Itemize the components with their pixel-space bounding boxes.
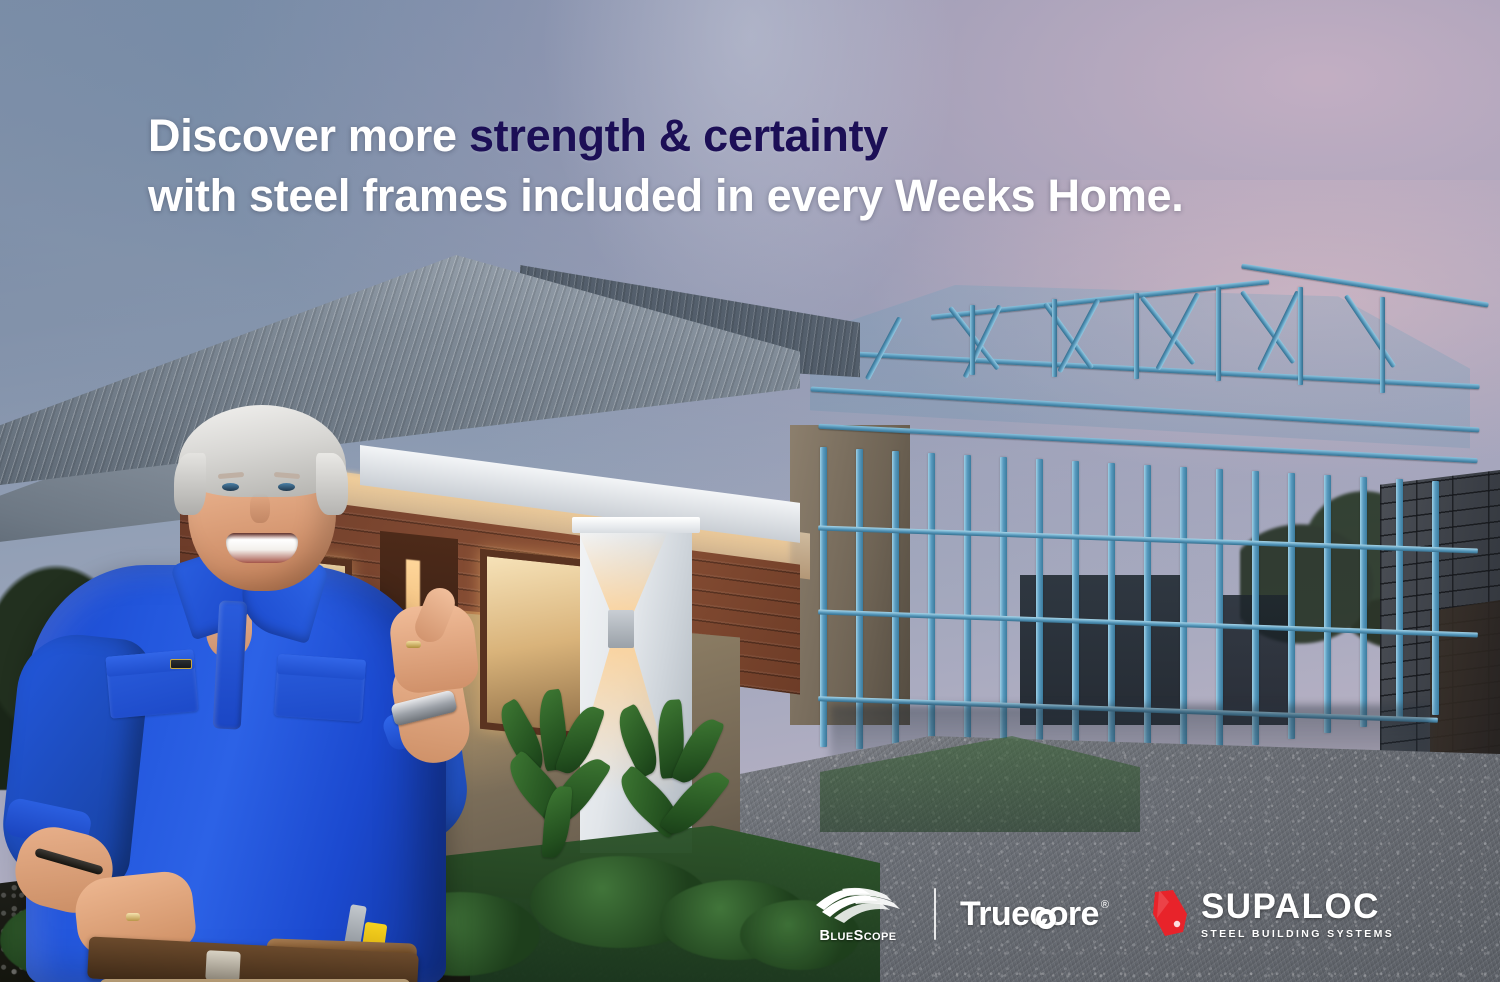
hair-side-right bbox=[316, 453, 348, 515]
wall-stud bbox=[1324, 475, 1331, 733]
truecore-wordmark: Truecore bbox=[960, 897, 1099, 931]
wall-stud bbox=[1360, 477, 1367, 727]
truss-vertical bbox=[1134, 293, 1139, 379]
truss-vertical bbox=[1216, 287, 1221, 381]
bluescope-waves-icon bbox=[812, 885, 904, 925]
banner-canvas: Discover more strength & certainty with … bbox=[0, 0, 1500, 982]
supaloc-text-block: SUPALOC STEEL BUILDING SYSTEMS bbox=[1201, 889, 1394, 940]
wall-light bbox=[608, 610, 634, 648]
wall-stud bbox=[856, 449, 863, 749]
frame-interior-opening bbox=[1020, 575, 1180, 725]
shirt-pocket-right bbox=[274, 654, 366, 722]
logo-divider bbox=[934, 888, 936, 940]
wall-stud bbox=[1288, 473, 1295, 739]
smiling-mouth bbox=[226, 533, 298, 563]
eye-right bbox=[278, 483, 295, 491]
supaloc-wordmark: SUPALOC bbox=[1201, 889, 1394, 924]
eye-left bbox=[222, 483, 239, 491]
feature-plant bbox=[500, 690, 630, 880]
wall-stud bbox=[1432, 481, 1439, 715]
truss-vertical bbox=[1380, 297, 1385, 393]
headline-line-2: with steel frames included in every Week… bbox=[148, 166, 1388, 226]
headline-line-1: Discover more strength & certainty bbox=[148, 106, 1388, 166]
finger-ring bbox=[406, 641, 421, 648]
column-cap bbox=[572, 517, 700, 533]
hair-side-left bbox=[174, 453, 206, 515]
wall-stud bbox=[1396, 479, 1403, 721]
headline-line1-pre: Discover more bbox=[148, 110, 469, 161]
supaloc-arrow-icon bbox=[1153, 888, 1197, 940]
page-title: Discover more strength & certainty with … bbox=[148, 106, 1388, 227]
wall-stud bbox=[1252, 471, 1259, 745]
shirt-brand-tag bbox=[170, 659, 192, 669]
belt-buckle bbox=[205, 950, 241, 982]
bluescope-wordmark: BLUESCOPE bbox=[820, 928, 897, 944]
truss-vertical bbox=[970, 305, 975, 375]
registered-trademark-icon: ® bbox=[1101, 899, 1109, 911]
truss-vertical bbox=[1298, 287, 1303, 385]
supaloc-tagline: STEEL BUILDING SYSTEMS bbox=[1201, 928, 1394, 940]
bluescope-logo: BLUESCOPE bbox=[806, 885, 910, 944]
headline-accent: strength & certainty bbox=[469, 110, 888, 161]
supaloc-logo: SUPALOC STEEL BUILDING SYSTEMS bbox=[1153, 888, 1394, 940]
brand-logo-row: BLUESCOPE Truecore ® SUPALOC STEEL BUILD… bbox=[806, 876, 1394, 952]
nose bbox=[250, 493, 270, 523]
finger-ring bbox=[126, 913, 140, 921]
steel-frame-structure bbox=[790, 275, 1490, 795]
truecore-ring-icon bbox=[1036, 909, 1056, 929]
truecore-logo: Truecore ® bbox=[960, 897, 1109, 931]
presenter-figure bbox=[10, 405, 480, 982]
truss-vertical bbox=[1052, 299, 1057, 377]
